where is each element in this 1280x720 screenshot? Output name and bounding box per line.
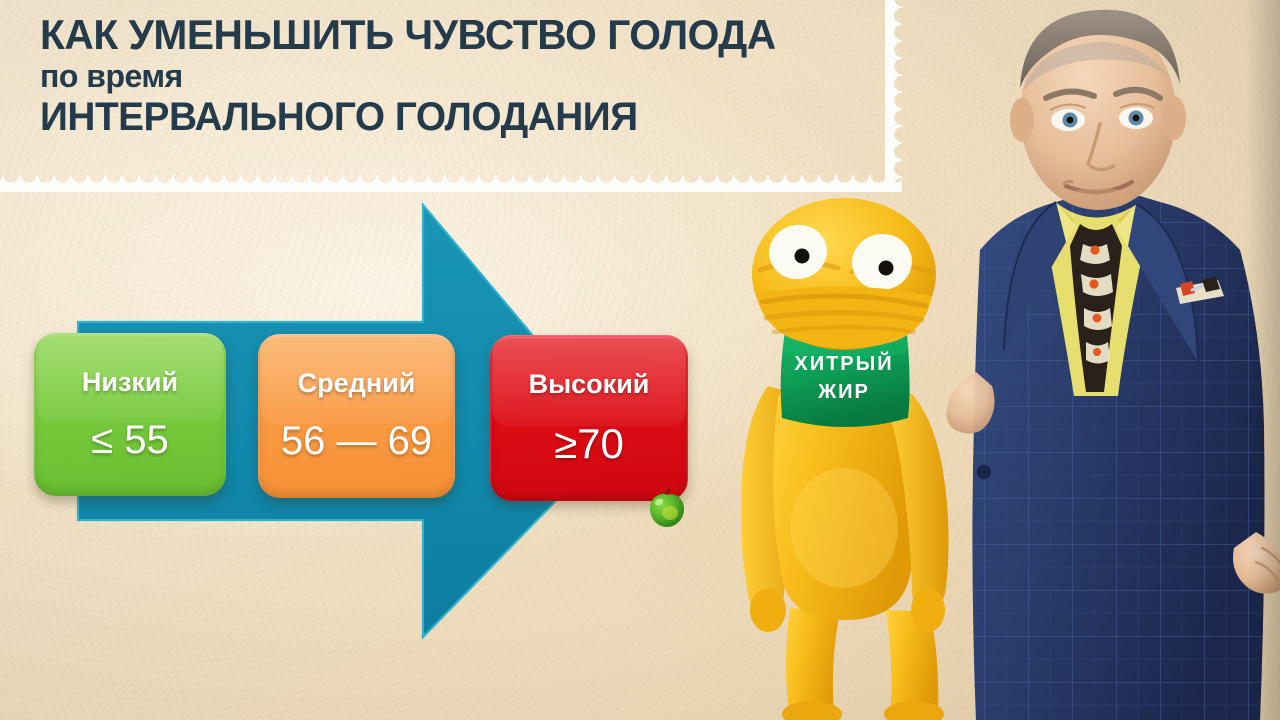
title-line-1: КАК УМЕНЬШИТЬ ЧУВСТВО ГОЛОДА xyxy=(40,14,874,56)
scale-box-low[interactable]: Низкий ≤ 55 xyxy=(34,333,226,496)
page-title: КАК УМЕНЬШИТЬ ЧУВСТВО ГОЛОДА по время ИН… xyxy=(40,14,900,137)
title-line-3: ИНТЕРВАЛЬНОГО ГОЛОДАНИЯ xyxy=(40,97,874,137)
title-line-2: по время xyxy=(40,60,900,92)
scale-box-low-range: ≤ 55 xyxy=(91,418,169,463)
scale-box-medium[interactable]: Средний 56 — 69 xyxy=(258,334,455,498)
scale-box-high-range: ≥70 xyxy=(554,420,624,468)
mascot-shirt-text-line1: ХИТРЫЙ xyxy=(794,351,893,375)
scale-box-high-label: Высокий xyxy=(529,369,650,400)
green-apple-icon xyxy=(646,487,688,529)
man-in-blue-suit xyxy=(940,0,1280,720)
scale-box-high[interactable]: Высокий ≥70 xyxy=(490,335,688,501)
mascot-shirt-text-line2: ЖИР xyxy=(817,381,870,403)
poster-canvas: Низкий ≤ 55 Средний 56 — 69 Высокий ≥70 xyxy=(0,0,1280,720)
scale-box-low-label: Низкий xyxy=(82,367,178,398)
scale-box-medium-range: 56 — 69 xyxy=(281,419,432,464)
scale-box-medium-label: Средний xyxy=(298,368,416,399)
